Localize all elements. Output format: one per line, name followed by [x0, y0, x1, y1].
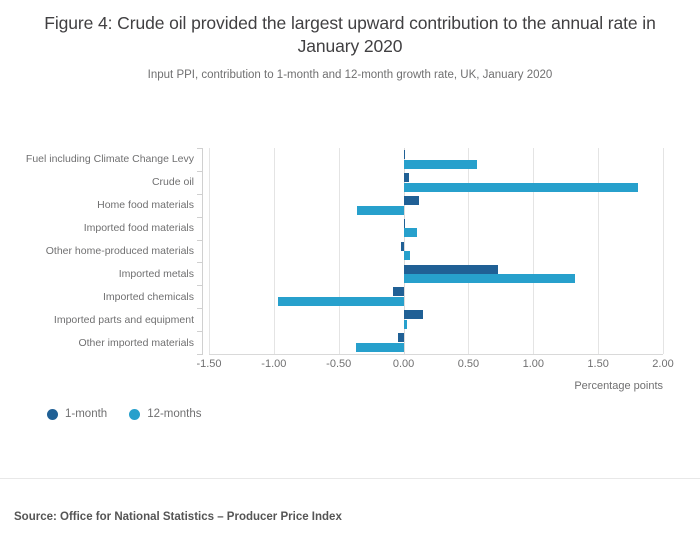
bar-1-month	[393, 287, 403, 296]
bar-12-months	[404, 320, 408, 329]
category-label: Imported metals	[119, 268, 194, 280]
category-label: Imported food materials	[84, 222, 194, 234]
bar-1-month	[404, 196, 420, 205]
x-tick-label: -0.50	[326, 358, 351, 370]
category-label: Home food materials	[97, 199, 194, 211]
circle-marker-icon	[129, 409, 140, 420]
gridline-2.00	[663, 148, 664, 354]
category-tick	[197, 217, 203, 218]
gridline-1.00	[533, 148, 534, 354]
category-axis: Fuel including Climate Change LevyCrude …	[0, 148, 203, 354]
x-axis-title: Percentage points	[0, 380, 663, 392]
x-tick-label: 1.50	[587, 358, 608, 370]
bar-12-months	[404, 183, 639, 192]
chart-subtitle: Input PPI, contribution to 1-month and 1…	[0, 58, 700, 81]
plot-area	[209, 148, 663, 354]
gridline--1.50	[209, 148, 210, 354]
bar-12-months	[356, 343, 404, 352]
source-note: Source: Office for National Statistics –…	[14, 511, 342, 523]
x-axis-line	[209, 354, 663, 355]
bar-12-months	[357, 206, 404, 215]
bar-12-months	[404, 251, 410, 260]
circle-marker-icon	[47, 409, 58, 420]
x-tick-label: -1.00	[261, 358, 286, 370]
gridline-1.50	[598, 148, 599, 354]
bar-1-month	[398, 333, 403, 342]
category-tick	[197, 285, 203, 286]
category-tick	[197, 240, 203, 241]
category-tick	[197, 148, 203, 149]
bar-12-months	[404, 274, 575, 283]
category-tick	[197, 194, 203, 195]
x-tick-label: 1.00	[523, 358, 544, 370]
legend-item[interactable]: 12-months	[129, 408, 201, 420]
category-label: Other imported materials	[78, 337, 194, 349]
bar-1-month	[401, 242, 404, 251]
bar-1-month	[404, 219, 405, 228]
x-axis-tick-labels: -1.50-1.00-0.500.000.501.001.502.00	[0, 358, 700, 378]
bar-12-months	[278, 297, 404, 306]
category-axis-line	[202, 148, 203, 354]
category-tick	[197, 262, 203, 263]
legend-label: 1-month	[65, 408, 107, 420]
x-tick-label: 0.00	[393, 358, 414, 370]
x-tick-label: 0.50	[458, 358, 479, 370]
category-label: Fuel including Climate Change Levy	[26, 153, 194, 165]
bar-12-months	[404, 160, 478, 169]
category-label: Crude oil	[152, 176, 194, 188]
category-tick	[197, 354, 203, 355]
footer-divider	[0, 478, 700, 479]
chart-container: Fuel including Climate Change LevyCrude …	[0, 118, 700, 418]
gridline--1.00	[274, 148, 275, 354]
gridline-0.50	[468, 148, 469, 354]
bar-1-month	[404, 173, 409, 182]
bar-12-months	[404, 228, 417, 237]
legend-item[interactable]: 1-month	[47, 408, 107, 420]
category-label: Imported parts and equipment	[54, 314, 194, 326]
category-tick	[197, 331, 203, 332]
gridline--0.50	[339, 148, 340, 354]
category-label: Other home-produced materials	[46, 245, 194, 257]
x-tick-label: 2.00	[652, 358, 673, 370]
bar-1-month	[404, 265, 499, 274]
bar-1-month	[404, 310, 423, 319]
page-title: Figure 4: Crude oil provided the largest…	[0, 0, 700, 58]
category-tick	[197, 171, 203, 172]
chart-legend: 1-month12-months	[47, 408, 202, 420]
x-tick-label: -1.50	[196, 358, 221, 370]
category-tick	[197, 308, 203, 309]
bar-1-month	[404, 150, 405, 159]
legend-label: 12-months	[147, 408, 201, 420]
category-label: Imported chemicals	[103, 291, 194, 303]
